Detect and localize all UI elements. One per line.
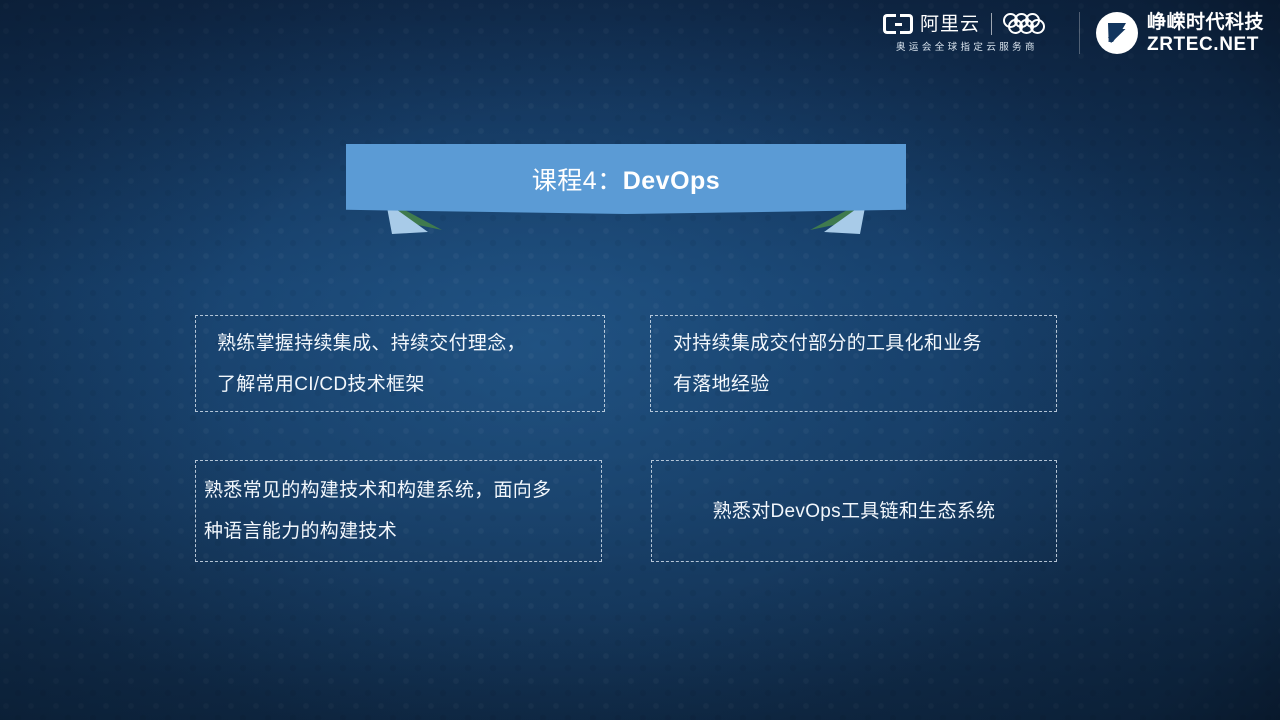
aliyun-tagline: 奥运会全球指定云服务商	[896, 39, 1038, 53]
content-box-1-line-1: 熟练掌握持续集成、持续交付理念，	[217, 334, 604, 353]
content-box-1: 熟练掌握持续集成、持续交付理念， 了解常用CI/CD技术框架	[195, 315, 605, 412]
aliyun-brand-cn: 阿里云	[920, 15, 980, 34]
zrtec-brand-cn: 峥嵘时代科技	[1147, 13, 1264, 32]
page-title-strong: DevOps	[623, 167, 720, 195]
ribbon-title-banner: 课程4：DevOps	[346, 144, 906, 244]
content-box-3-line-1: 熟悉常见的构建技术和构建系统，面向多	[204, 481, 601, 500]
content-box-3-line-2: 种语言能力的构建技术	[204, 522, 601, 541]
page-title: 课程4：DevOps	[532, 161, 720, 197]
aliyun-logo-row: 阿里云	[883, 13, 1051, 35]
aliyun-logo: 阿里云 奥运会全球指定云服务商	[883, 13, 1065, 53]
content-box-4-line-1: 熟悉对DevOps工具链和生态系统	[713, 502, 996, 521]
zrtec-logo: 峥嵘时代科技 ZRTEC.NET	[1079, 12, 1264, 54]
content-box-1-line-2: 了解常用CI/CD技术框架	[217, 375, 604, 394]
content-box-2-line-1: 对持续集成交付部分的工具化和业务	[673, 334, 1056, 353]
olympic-rings-icon	[1003, 13, 1051, 35]
page-title-prefix: 课程4：	[532, 167, 623, 195]
content-box-2: 对持续集成交付部分的工具化和业务 有落地经验	[650, 315, 1057, 412]
content-box-3: 熟悉常见的构建技术和构建系统，面向多 种语言能力的构建技术	[195, 460, 602, 562]
ribbon-band: 课程4：DevOps	[346, 144, 906, 214]
content-box-4: 熟悉对DevOps工具链和生态系统	[651, 460, 1057, 562]
slide-canvas: 阿里云 奥运会全球指定云服务商 峥嵘时代科技 ZRTEC.NET	[0, 0, 1280, 720]
logo-bar: 阿里云 奥运会全球指定云服务商 峥嵘时代科技 ZRTEC.NET	[883, 12, 1264, 54]
zrtec-brand-en: ZRTEC.NET	[1147, 35, 1264, 54]
logo-divider	[991, 13, 992, 35]
zrtec-text-block: 峥嵘时代科技 ZRTEC.NET	[1147, 13, 1264, 54]
content-box-2-line-2: 有落地经验	[673, 375, 1056, 394]
alibaba-cloud-mark-icon	[883, 14, 913, 34]
zrtec-z-mark-icon	[1096, 12, 1138, 54]
